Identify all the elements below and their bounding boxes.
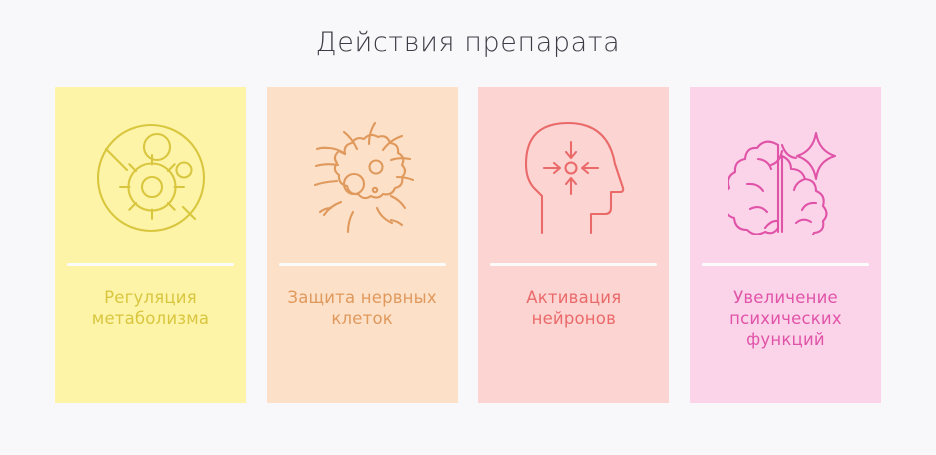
card-divider xyxy=(67,263,234,266)
card-divider xyxy=(702,263,869,266)
card-neuron-activation[interactable]: Активация нейронов xyxy=(478,87,669,403)
card-divider xyxy=(490,263,657,266)
infographic-page: Действия препарата xyxy=(0,0,936,455)
brain-sparkle-icon xyxy=(725,115,845,240)
card-mental-functions-increase[interactable]: Увеличение психических функций xyxy=(690,87,881,403)
card-label: Защита нервных клеток xyxy=(275,287,450,329)
card-label: Регуляция метаболизма xyxy=(63,287,238,329)
card-label: Активация нейронов xyxy=(486,287,661,329)
page-title: Действия препарата xyxy=(0,27,936,58)
card-divider xyxy=(279,263,446,266)
card-label: Увеличение психических функций xyxy=(698,287,873,350)
head-arrows-icon xyxy=(514,115,634,240)
card-nerve-cell-protection[interactable]: Защита нервных клеток xyxy=(267,87,458,403)
nerve-cell-icon xyxy=(302,115,422,240)
card-regulation-metabolism[interactable]: Регуляция метаболизма xyxy=(55,87,246,403)
cards-row: Регуляция метаболизма xyxy=(55,87,881,403)
cell-metabolism-icon xyxy=(91,115,211,240)
